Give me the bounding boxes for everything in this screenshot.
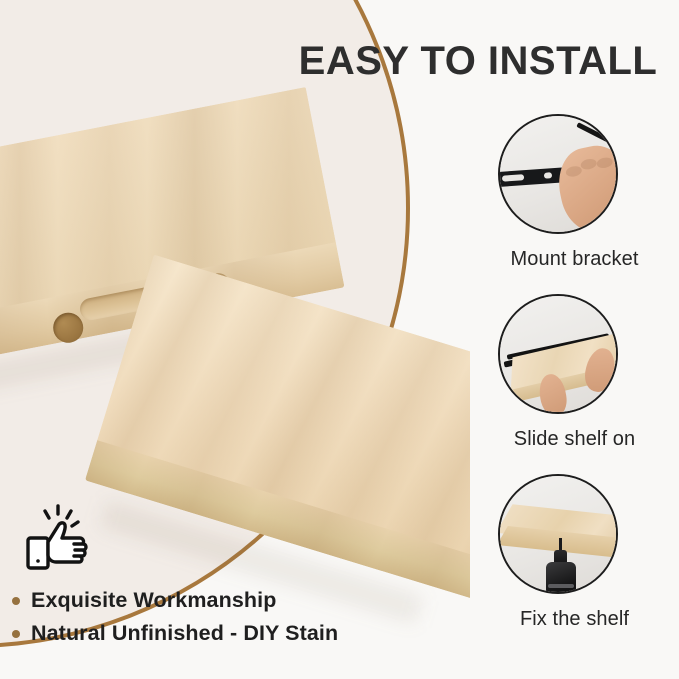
- install-step-1: Mount bracket: [470, 114, 679, 271]
- product-photo-stage: [0, 0, 470, 679]
- knuckle-shade: [565, 165, 583, 178]
- install-step-2: Slide shelf on: [470, 294, 679, 451]
- feature-bullet-list: Exquisite Workmanship Natural Unfinished…: [12, 584, 432, 650]
- thumbs-up-icon: [20, 500, 96, 574]
- hand-marking-bracket-photo: [498, 114, 618, 234]
- knuckle-shade: [596, 156, 614, 169]
- bullet-dot-icon: [12, 597, 20, 605]
- bullet-dot-icon: [12, 630, 20, 638]
- list-item: Exquisite Workmanship: [12, 584, 432, 617]
- product-infographic: EASY TO INSTALL: [0, 0, 679, 679]
- drill-detail-stripe: [548, 584, 574, 588]
- install-steps-column: Mount bracket Slide shelf on: [470, 0, 679, 679]
- feature-text: Natural Unfinished - DIY Stain: [31, 621, 338, 646]
- bracket-slot: [502, 174, 524, 182]
- knuckle-shade: [580, 158, 598, 171]
- hands-sliding-shelf-photo: [498, 294, 618, 414]
- bracket-slot: [544, 172, 552, 179]
- list-item: Natural Unfinished - DIY Stain: [12, 617, 432, 650]
- drill-fixing-shelf-photo: [498, 474, 618, 594]
- feature-text: Exquisite Workmanship: [31, 588, 276, 613]
- install-step-1-label: Mount bracket: [470, 248, 679, 271]
- install-step-3: Fix the shelf: [470, 474, 679, 631]
- install-step-2-label: Slide shelf on: [470, 428, 679, 451]
- install-step-3-label: Fix the shelf: [470, 608, 679, 631]
- drill-body-icon: [546, 562, 576, 594]
